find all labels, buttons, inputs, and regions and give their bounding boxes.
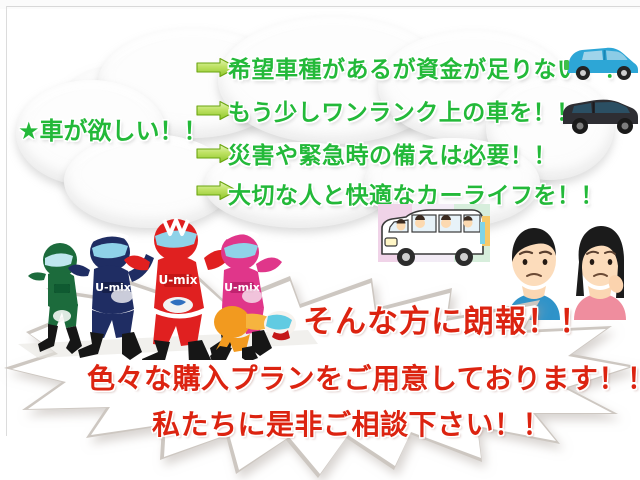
- svg-text:U-mix: U-mix: [158, 273, 197, 287]
- promo-banner: ★車が欲しい！！ 希望車種があるが資金が足りない！！ もう少し: [0, 0, 640, 480]
- blue-hatchback-car: [562, 40, 640, 84]
- starburst-line-3: 私たちに是非ご相談下さい！！: [152, 403, 551, 443]
- frame-top-line: [6, 6, 640, 7]
- starburst-line-2: 色々な購入プランをご用意しております！！: [87, 357, 640, 397]
- green-hero: [28, 243, 82, 354]
- frame-tint: [0, 0, 640, 9]
- cloud-headline: ★車が欲しい！！: [18, 111, 208, 146]
- dark-suv-car: [560, 90, 640, 138]
- u-mix-hero-team: U-mix U-mix: [18, 212, 328, 360]
- cloud-bullet-text: もう少しワンランク上の車を！！: [228, 93, 580, 127]
- cloud-bullet-text: 災害や緊急時の備えは必要！！: [228, 136, 557, 170]
- white-family-van: [376, 202, 492, 276]
- starburst-line-1: そんな方に朗報！！: [303, 296, 591, 341]
